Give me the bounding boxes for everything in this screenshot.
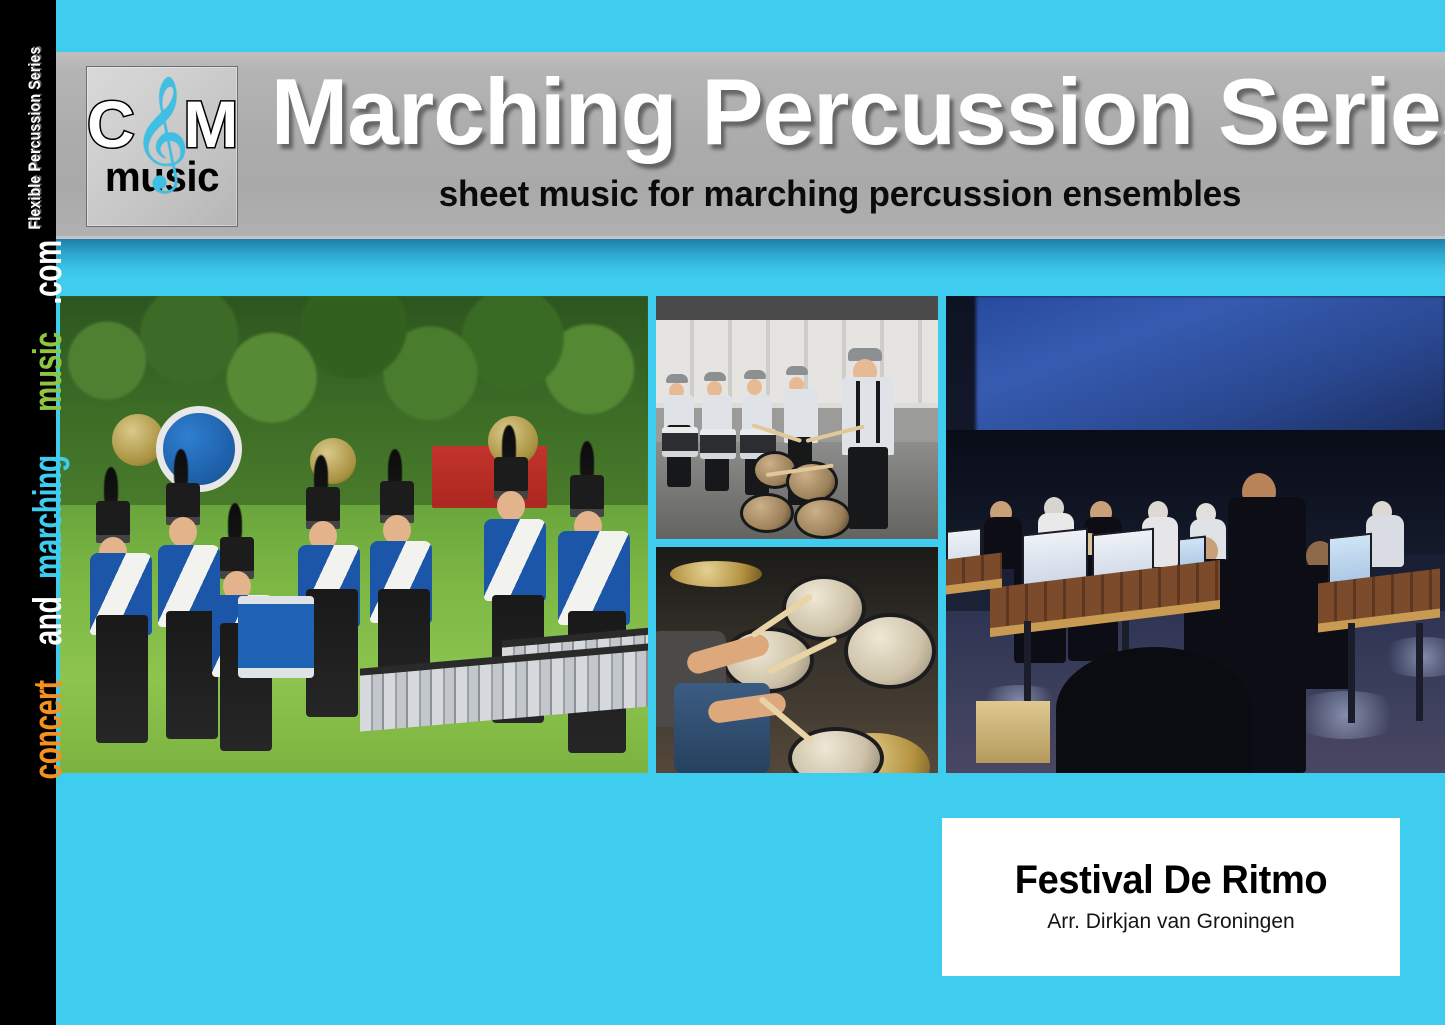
spine-website-url: concertandmarchingmusic.com: [28, 305, 68, 780]
photo-drum-kit: [656, 547, 938, 773]
url-segment-com: .com: [28, 240, 68, 304]
treble-clef-icon: 𝄞: [132, 83, 190, 181]
title-plate: Festival De Ritmo Arr. Dirkjan van Groni…: [942, 818, 1400, 976]
url-segment-music: music: [28, 333, 68, 413]
cm-music-logo: C M 𝄞 music: [86, 66, 238, 227]
url-segment-and: and: [28, 597, 68, 646]
spine-series-label: Flexible Percussion Series: [25, 36, 45, 241]
photo-concert-percussion: [946, 296, 1445, 773]
left-spine: Flexible Percussion Series concertandmar…: [0, 0, 56, 1025]
photo-marching-band: [60, 296, 648, 773]
logo-letter-m: M: [183, 87, 242, 161]
url-segment-concert: concert: [28, 680, 68, 779]
photo-collage: [60, 296, 1445, 773]
photo-indoor-drumline: [656, 296, 938, 539]
url-segment-marching: marching: [28, 456, 68, 580]
blue-gradient-divider: [56, 239, 1445, 279]
piece-arranger: Arr. Dirkjan van Groningen: [942, 911, 1400, 932]
page-title: Marching Percussion Series: [271, 62, 1410, 162]
piece-title: Festival De Ritmo: [953, 860, 1388, 900]
sheet-music-cover: Flexible Percussion Series concertandmar…: [0, 0, 1445, 1025]
page-subtitle: sheet music for marching percussion ense…: [282, 176, 1398, 212]
